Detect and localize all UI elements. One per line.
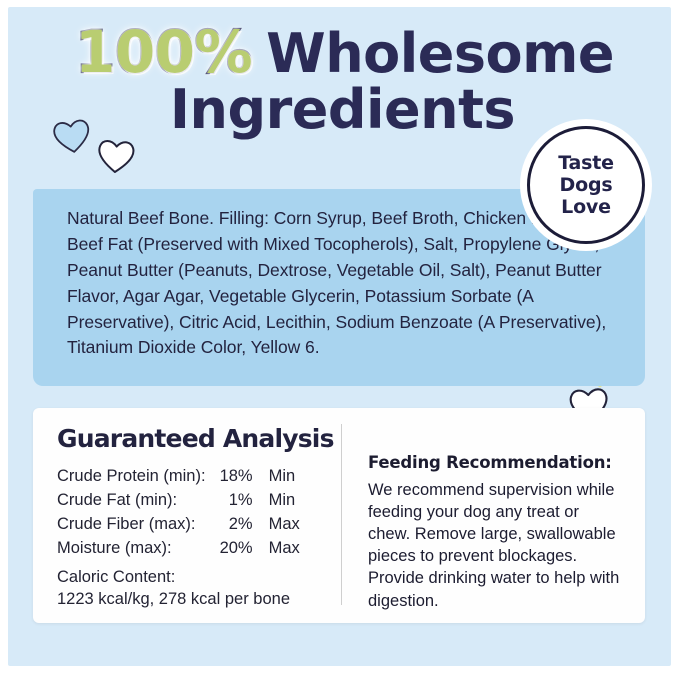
ga-value: 1% — [220, 488, 269, 512]
caloric-content-value: 1223 kcal/kg, 278 kcal per bone — [57, 589, 341, 611]
headline-wholesome: Wholesome — [266, 22, 614, 85]
badge-line-1: Taste — [558, 152, 614, 174]
ga-nutrient: Crude Fiber (max): — [57, 512, 220, 536]
feeding-recommendation-section: Feeding Recommendation: We recommend sup… — [342, 408, 645, 623]
heart-icon-blue — [50, 115, 95, 156]
feeding-recommendation-body: We recommend supervision while feeding y… — [368, 479, 623, 612]
feeding-recommendation-title: Feeding Recommendation: — [368, 453, 623, 472]
info-card: Guaranteed Analysis Crude Protein (min):… — [33, 408, 645, 623]
headline-line-1: 100%Wholesome — [0, 26, 679, 79]
taste-dogs-love-badge: Taste Dogs Love — [527, 126, 645, 244]
headline-percent: 100% — [75, 18, 252, 86]
ga-qualifier: Min — [269, 464, 300, 488]
badge-line-2: Dogs — [560, 174, 613, 196]
ga-value: 2% — [220, 512, 269, 536]
guaranteed-analysis-rows: Crude Protein (min): 18% Min Crude Fat (… — [57, 464, 300, 560]
heart-icon-white — [95, 137, 137, 176]
ga-qualifier: Min — [269, 488, 300, 512]
guaranteed-analysis-title: Guaranteed Analysis — [57, 424, 341, 453]
product-label-panel: 100%Wholesome Ingredients Taste Dogs Lov… — [0, 0, 679, 673]
ga-nutrient: Crude Fat (min): — [57, 488, 220, 512]
table-row: Crude Protein (min): 18% Min — [57, 464, 300, 488]
headline: 100%Wholesome Ingredients — [0, 26, 679, 135]
ga-qualifier: Max — [269, 512, 300, 536]
ga-nutrient: Crude Protein (min): — [57, 464, 220, 488]
ga-qualifier: Max — [269, 536, 300, 560]
table-row: Moisture (max): 20% Max — [57, 536, 300, 560]
table-row: Crude Fat (min): 1% Min — [57, 488, 300, 512]
caloric-content-label: Caloric Content: — [57, 567, 341, 589]
ga-nutrient: Moisture (max): — [57, 536, 220, 560]
ga-value: 20% — [220, 536, 269, 560]
guaranteed-analysis-section: Guaranteed Analysis Crude Protein (min):… — [33, 408, 341, 623]
ga-value: 18% — [220, 464, 269, 488]
badge-line-3: Love — [561, 196, 611, 218]
table-row: Crude Fiber (max): 2% Max — [57, 512, 300, 536]
guaranteed-analysis-table: Crude Protein (min): 18% Min Crude Fat (… — [57, 464, 300, 560]
